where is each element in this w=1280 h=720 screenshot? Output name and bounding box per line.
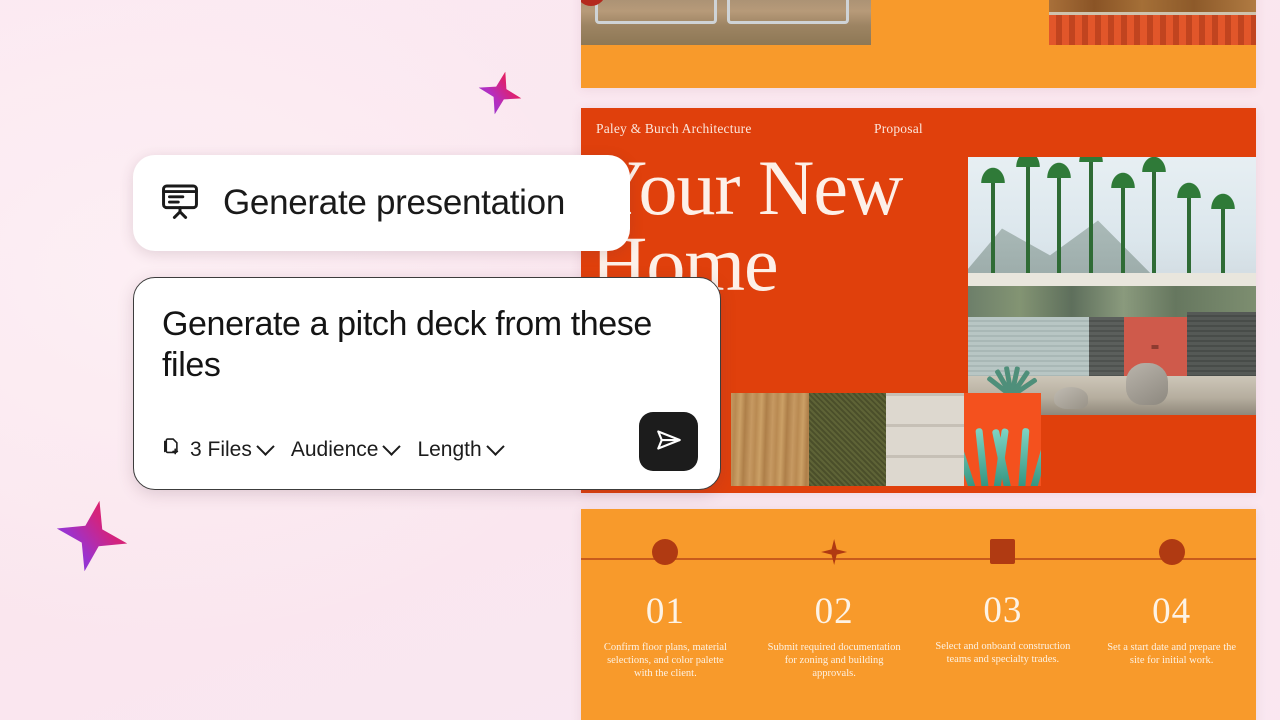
timeline-step-caption: Select and onboard construction teams an…	[919, 641, 1088, 667]
hero-brand-name: Paley & Burch Architecture	[596, 121, 752, 137]
length-selector[interactable]: Length	[417, 438, 501, 462]
hero-slide-header: Paley & Burch Architecture Proposal	[581, 121, 1256, 141]
chevron-down-icon	[383, 437, 401, 455]
send-icon	[654, 425, 684, 458]
send-button[interactable]	[639, 412, 698, 471]
prompt-input-card[interactable]: Generate a pitch deck from these files 3…	[133, 277, 721, 490]
timeline-step-number: 04	[1087, 590, 1256, 633]
timeline-step: 01 Confirm floor plans, material selecti…	[581, 509, 750, 680]
add-file-icon	[162, 436, 183, 463]
timeline-step-number: 01	[581, 590, 750, 633]
generate-presentation-button[interactable]: Generate presentation	[133, 155, 630, 251]
chevron-down-icon	[486, 437, 504, 455]
chevron-down-icon	[256, 437, 274, 455]
wood-wall-photo	[1049, 0, 1256, 45]
timeline-step-caption: Set a start date and prepare the site fo…	[1087, 642, 1256, 668]
generate-presentation-label: Generate presentation	[223, 183, 565, 223]
deck-slide-top[interactable]	[581, 0, 1256, 88]
timeline-step-caption: Confirm floor plans, material selections…	[581, 642, 750, 680]
agave-orange-swatch	[964, 393, 1042, 486]
timeline-step-number: 03	[919, 589, 1088, 632]
timeline-steps: 01 Confirm floor plans, material selecti…	[581, 509, 1256, 680]
timeline-step-number: 02	[750, 590, 919, 633]
prompt-options-row: 3 Files Audience Length	[162, 436, 502, 463]
deck-slide-timeline[interactable]: 01 Confirm floor plans, material selecti…	[581, 509, 1256, 720]
mid-century-modern-house-photo	[968, 157, 1256, 415]
files-count-label: 3 Files	[190, 438, 252, 462]
timeline-marker-circle-icon	[1159, 539, 1185, 565]
presentation-icon	[159, 180, 201, 227]
files-selector[interactable]: 3 Files	[162, 436, 272, 463]
timeline-step-caption: Submit required documentation for zoning…	[750, 642, 919, 680]
wood-grain-swatch	[731, 393, 809, 486]
audience-selector[interactable]: Audience	[291, 438, 399, 462]
timeline-step: 03 Select and onboard construction teams…	[919, 509, 1088, 680]
material-swatch-strip	[731, 393, 1041, 486]
audience-label: Audience	[291, 438, 379, 462]
olive-fabric-swatch	[809, 393, 887, 486]
timeline-marker-star-icon	[821, 539, 847, 565]
prompt-text-input[interactable]: Generate a pitch deck from these files	[162, 304, 692, 386]
lounge-chairs-photo	[581, 0, 871, 45]
red-accent-shape	[581, 0, 606, 6]
timeline-marker-square-icon	[990, 539, 1015, 564]
timeline-step: 04 Set a start date and prepare the site…	[1087, 509, 1256, 680]
hero-kicker: Proposal	[874, 121, 923, 137]
beige-tile-swatch	[886, 393, 964, 486]
timeline-step: 02 Submit required documentation for zon…	[750, 509, 919, 680]
timeline-marker-circle-icon	[652, 539, 678, 565]
length-label: Length	[417, 438, 481, 462]
